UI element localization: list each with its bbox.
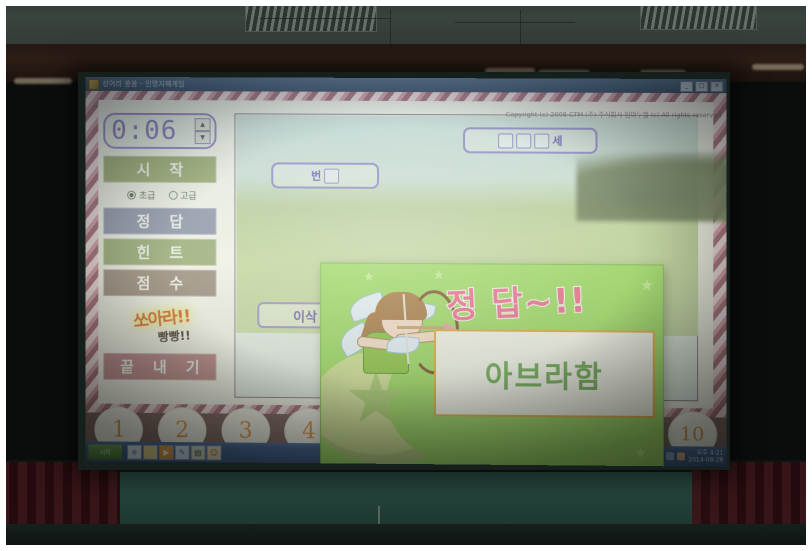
- popup-answer-panel: 아브라함: [434, 329, 655, 418]
- ceiling-seam-2: [390, 10, 391, 44]
- timer-display[interactable]: 0:06 ▲ ▼: [103, 113, 216, 149]
- popup-title: 정 답~!!: [445, 272, 588, 327]
- difficulty-advanced[interactable]: 고급: [168, 189, 196, 202]
- folder-icon[interactable]: [143, 444, 158, 459]
- age-blank-2[interactable]: [516, 133, 531, 148]
- monitor-icon[interactable]: ▤: [191, 445, 206, 460]
- age-answer-box[interactable]: 세: [463, 127, 597, 154]
- projected-screen: 성어라 쏭쏭 - 인명지혜게임 _ □ × Copyright (c) 2008…: [85, 77, 726, 467]
- ceiling-seam-3: [455, 22, 575, 23]
- number-blank[interactable]: [324, 168, 339, 183]
- clock-date: 2014-08-28: [688, 456, 723, 463]
- popup-star-5: ★: [634, 444, 648, 462]
- age-blank-3[interactable]: [534, 133, 549, 148]
- difficulty-beginner-label: 초급: [139, 192, 155, 202]
- end-button[interactable]: 끝 내 기: [103, 353, 216, 381]
- difficulty-advanced-label: 고급: [180, 192, 196, 202]
- app-icon: [88, 78, 99, 89]
- popup-answer-text: 아브라함: [485, 351, 604, 396]
- number-answer-box[interactable]: 번: [271, 162, 379, 188]
- taskbar-clock[interactable]: 오후 4:21 2014-08-28: [688, 449, 723, 463]
- quick-launch-bar[interactable]: e ▶ ✎ ▤ ☺: [127, 444, 221, 460]
- popup-star-3: ★: [640, 275, 654, 294]
- timer-spinner[interactable]: ▲ ▼: [195, 118, 211, 144]
- ceiling-vent-right: [640, 2, 757, 30]
- projected-classroom-photo: 성어라 쏭쏭 - 인명지혜게임 _ □ × Copyright (c) 2008…: [0, 0, 812, 551]
- age-blank-1[interactable]: [498, 133, 513, 148]
- person-icon[interactable]: ☺: [207, 445, 222, 460]
- media-icon[interactable]: ▶: [159, 444, 174, 459]
- edit-icon[interactable]: ✎: [175, 445, 190, 460]
- copyright-text: Copyright (c) 2008 CTM (주) 주식회사 임마누엘 (c)…: [506, 108, 722, 119]
- hint-button[interactable]: 힌 트: [103, 238, 216, 266]
- browser-icon[interactable]: e: [127, 444, 142, 459]
- left-control-panel: 0:06 ▲ ▼ 시 작 초급 고급 정 답 힌 트 점 수 쏘아라!! 빵빵!…: [103, 113, 220, 398]
- maximize-button[interactable]: □: [695, 81, 708, 92]
- radio-advanced-icon[interactable]: [168, 191, 177, 200]
- ceiling-seam-1: [260, 18, 390, 19]
- difficulty-beginner[interactable]: 초급: [127, 189, 155, 202]
- start-menu-button[interactable]: 시작: [88, 444, 122, 459]
- answer-button[interactable]: 정 답: [103, 207, 216, 235]
- window-title: 성어라 쏭쏭 - 인명지혜게임: [102, 79, 184, 89]
- difficulty-radio-group[interactable]: 초급 고급: [103, 188, 220, 202]
- radio-beginner-icon[interactable]: [127, 191, 136, 200]
- number-unit-label: 번: [311, 168, 321, 184]
- correct-answer-popup[interactable]: ★ ★ ★ ★ ★: [320, 262, 664, 466]
- wall-smear-1: [14, 78, 72, 84]
- tree-line: [576, 151, 726, 222]
- popup-star-2: ★: [433, 268, 445, 283]
- close-button[interactable]: ×: [710, 81, 723, 92]
- timer-spinner-up[interactable]: ▲: [195, 118, 211, 131]
- minimize-button[interactable]: _: [680, 80, 693, 91]
- shield-icon[interactable]: [677, 452, 685, 460]
- wall-smear-8: [752, 64, 804, 70]
- network-icon[interactable]: [666, 452, 674, 460]
- score-button[interactable]: 점 수: [103, 269, 216, 297]
- timer-value: 0:06: [111, 118, 177, 144]
- shoot-banner: 쏘아라!! 빵빵!!: [103, 299, 220, 350]
- timer-spinner-down[interactable]: ▼: [195, 131, 211, 144]
- ceiling-seam-4: [520, 10, 521, 44]
- window-controls[interactable]: _ □ ×: [680, 80, 723, 91]
- age-unit-label: 세: [552, 133, 562, 149]
- start-button[interactable]: 시 작: [103, 156, 216, 183]
- shoot-banner-line2: 빵빵!!: [158, 326, 192, 345]
- floor: [0, 524, 812, 551]
- app-window: Copyright (c) 2008 CTM (주) 주식회사 임마누엘 (c)…: [85, 91, 726, 418]
